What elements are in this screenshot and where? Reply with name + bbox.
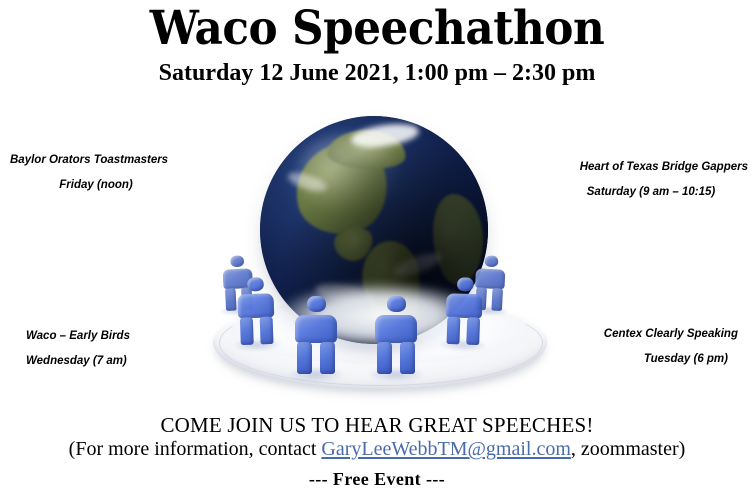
figure-torso bbox=[375, 315, 417, 343]
figure-leg-right bbox=[400, 342, 415, 374]
figure-head bbox=[484, 255, 498, 267]
event-datetime-subtitle: Saturday 12 June 2021, 1:00 pm – 2:30 pm bbox=[0, 59, 754, 87]
figure-leg-left bbox=[377, 342, 392, 374]
call-to-action-headline: COME JOIN US TO HEAR GREAT SPEECHES! bbox=[0, 413, 754, 438]
club-label-top-left: Baylor Orators Toastmasters Friday (noon… bbox=[10, 148, 210, 198]
figure-leg-right bbox=[260, 316, 274, 344]
club-label-bottom-left: Waco – Early Birds Wednesday (7 am) bbox=[26, 324, 216, 374]
figure-head bbox=[307, 296, 326, 312]
figure-head bbox=[387, 296, 406, 312]
club-name: Baylor Orators Toastmasters bbox=[10, 148, 210, 173]
free-event-badge: --- Free Event --- bbox=[0, 467, 754, 491]
club-meeting-time: Saturday (9 am – 10:15) bbox=[528, 180, 748, 205]
club-name: Waco – Early Birds bbox=[26, 324, 216, 349]
club-meeting-time: Tuesday (6 pm) bbox=[538, 347, 738, 372]
figure-head bbox=[457, 277, 474, 291]
club-meeting-time: Friday (noon) bbox=[10, 173, 210, 198]
figure-head bbox=[247, 277, 264, 291]
club-name: Centex Clearly Speaking bbox=[538, 322, 738, 347]
figure-leg-right bbox=[491, 288, 503, 311]
club-meeting-time: Wednesday (7 am) bbox=[26, 349, 216, 374]
contact-suffix-text: , zoommaster) bbox=[571, 438, 685, 460]
person-figure bbox=[443, 277, 485, 345]
page-title: Waco Speechathon bbox=[26, 2, 727, 56]
figure-head bbox=[230, 255, 244, 267]
figure-torso bbox=[295, 315, 337, 343]
contact-email-link[interactable]: GaryLeeWebbTM@gmail.com bbox=[321, 438, 571, 460]
club-name: Heart of Texas Bridge Gappers bbox=[528, 155, 748, 180]
globe-with-people-illustration bbox=[205, 112, 555, 404]
person-figure bbox=[373, 296, 419, 374]
figure-leg-right bbox=[466, 317, 480, 345]
figure-torso bbox=[237, 293, 274, 318]
figure-leg-left bbox=[240, 317, 254, 345]
club-label-bottom-right: Centex Clearly Speaking Tuesday (6 pm) bbox=[538, 322, 738, 372]
club-label-top-right: Heart of Texas Bridge Gappers Saturday (… bbox=[528, 155, 748, 205]
figure-leg-left bbox=[297, 342, 312, 374]
figure-leg-left bbox=[446, 316, 460, 344]
figure-leg-right bbox=[320, 342, 335, 374]
person-figure bbox=[293, 296, 339, 374]
contact-prefix-text: (For more information, contact bbox=[69, 438, 322, 460]
person-figure bbox=[235, 277, 277, 345]
figure-torso bbox=[446, 293, 483, 318]
contact-line: (For more information, contact GaryLeeWe… bbox=[0, 437, 754, 462]
